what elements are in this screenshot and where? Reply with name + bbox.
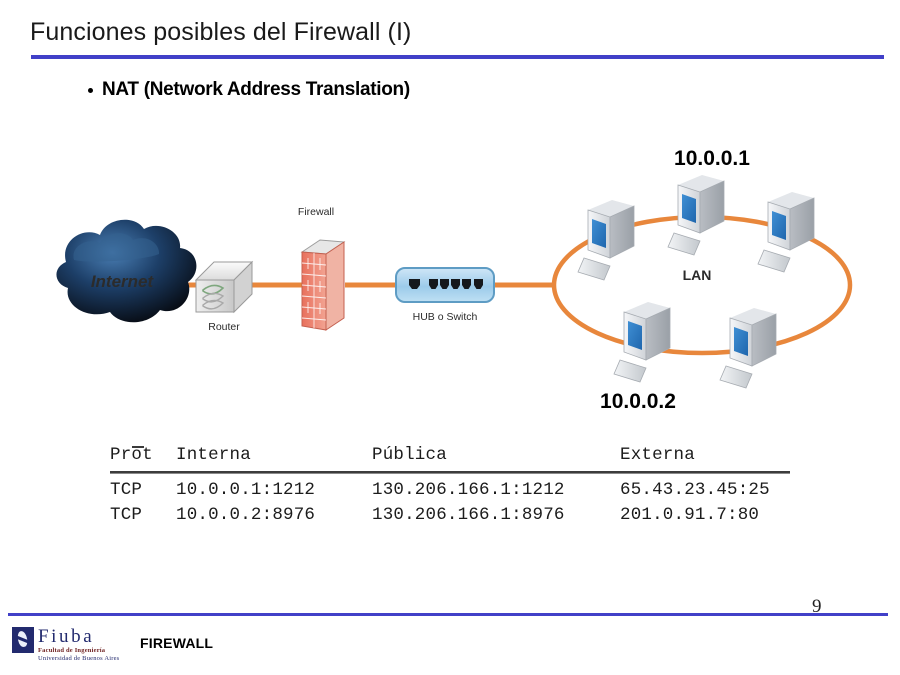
internet-cloud-label: Internet bbox=[91, 272, 155, 291]
title-underline-rule bbox=[31, 55, 884, 59]
fiuba-emblem-icon bbox=[12, 627, 34, 653]
cell-prot: TCP bbox=[110, 478, 176, 503]
fiuba-logo-text: Fiuba Facultad de Ingeniería Universidad… bbox=[38, 627, 119, 663]
footer-rule bbox=[8, 613, 888, 616]
table-row: TCP 10.0.0.1:1212 130.206.166.1:1212 65.… bbox=[110, 478, 810, 503]
cell-prot: TCP bbox=[110, 503, 176, 528]
fiuba-logo-name: Fiuba bbox=[38, 627, 119, 646]
cell-externa: 65.43.23.45:25 bbox=[620, 478, 800, 503]
bullet-item-nat: NAT (Network Address Translation) bbox=[88, 79, 410, 101]
fiuba-logo: Fiuba Facultad de Ingeniería Universidad… bbox=[12, 627, 119, 663]
host-computer bbox=[720, 308, 776, 388]
host-computer bbox=[758, 192, 814, 272]
cell-publica: 130.206.166.1:1212 bbox=[372, 478, 620, 503]
internet-cloud: Internet bbox=[56, 220, 196, 323]
cell-externa: 201.0.91.7:80 bbox=[620, 503, 800, 528]
firewall: Firewall bbox=[298, 206, 344, 330]
nat-translation-table: Prot Interna Pública Externa TCP 10.0.0.… bbox=[110, 443, 810, 528]
cell-interna: 10.0.0.1:1212 bbox=[176, 478, 372, 503]
bullet-dot-icon bbox=[88, 88, 93, 93]
fiuba-logo-university: Universidad de Buenos Aires bbox=[38, 656, 119, 663]
column-header-prot: Prot bbox=[110, 443, 176, 468]
cell-interna: 10.0.0.2:8976 bbox=[176, 503, 372, 528]
footer-subject-label: FIREWALL bbox=[140, 635, 213, 651]
switch-label: HUB o Switch bbox=[413, 311, 478, 323]
table-header-row: Prot Interna Pública Externa bbox=[110, 443, 810, 468]
host-computer-10-0-0-1 bbox=[668, 175, 724, 255]
column-header-interna: Interna bbox=[176, 443, 372, 468]
bullet-item-label: NAT (Network Address Translation) bbox=[102, 79, 410, 101]
page-title: Funciones posibles del Firewall (I) bbox=[30, 18, 411, 47]
host-label-10-0-0-2: 10.0.0.2 bbox=[600, 390, 676, 413]
router: Router bbox=[196, 262, 252, 333]
table-header-rule bbox=[110, 471, 790, 474]
column-header-externa: Externa bbox=[620, 443, 800, 468]
lan-label: LAN bbox=[683, 267, 712, 283]
cell-publica: 130.206.166.1:8976 bbox=[372, 503, 620, 528]
table-row: TCP 10.0.0.2:8976 130.206.166.1:8976 201… bbox=[110, 503, 810, 528]
firewall-label: Firewall bbox=[298, 206, 334, 218]
host-label-10-0-0-1: 10.0.0.1 bbox=[674, 147, 750, 170]
fiuba-logo-faculty: Facultad de Ingeniería bbox=[38, 648, 119, 655]
router-label: Router bbox=[208, 321, 240, 333]
column-header-publica: Pública bbox=[372, 443, 620, 468]
switch: HUB o Switch bbox=[396, 268, 494, 323]
network-diagram: Internet Router Firewall bbox=[0, 140, 900, 420]
